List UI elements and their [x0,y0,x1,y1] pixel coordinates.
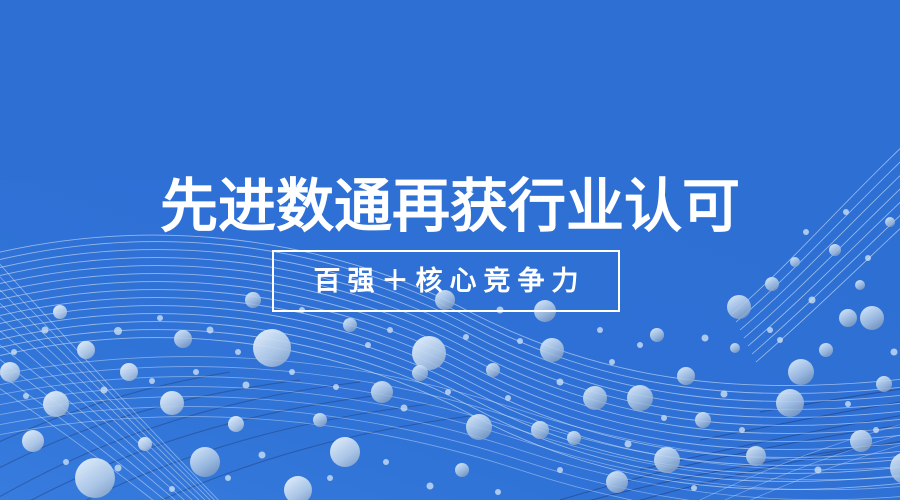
banner-text-layer: 先进数通再获行业认可 百强＋核心竞争力 [0,0,900,500]
subtitle-text: 百强＋核心竞争力 [307,268,586,295]
subtitle-badge: 百强＋核心竞争力 [272,250,620,312]
page-title: 先进数通再获行业认可 [0,177,900,238]
promo-banner: 先进数通再获行业认可 百强＋核心竞争力 [0,0,900,500]
